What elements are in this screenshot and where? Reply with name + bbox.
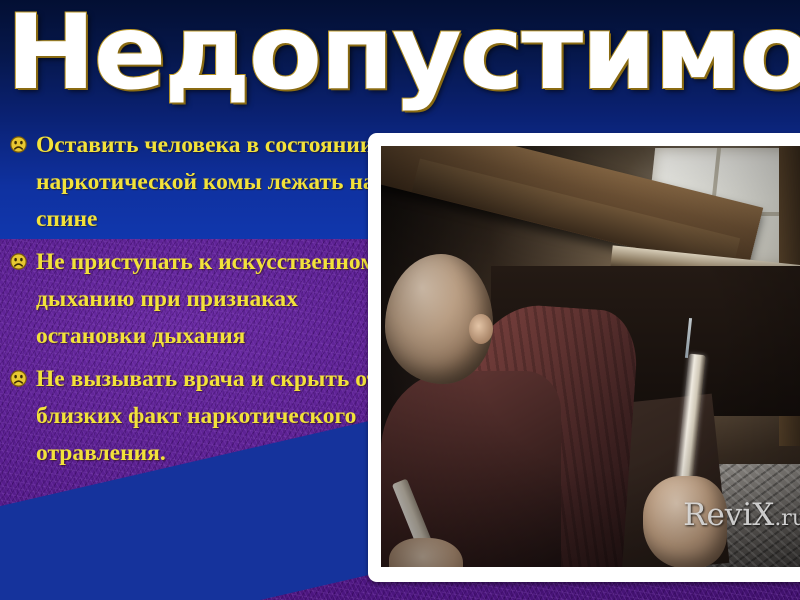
watermark-suffix: .ru [774,506,800,531]
list-item: Оставить человека в состоянии наркотичес… [10,127,402,238]
bullet-list: Оставить человека в состоянии наркотичес… [10,127,402,478]
slide-photo: ReviX.ru [381,146,800,567]
watermark-main: ReviX [683,497,774,533]
list-item-label: Не вызывать врача и скрыть от близких фа… [36,361,402,472]
sad-face-icon [10,370,27,387]
list-item: Не вызывать врача и скрыть от близких фа… [10,361,402,472]
sad-face-icon [10,136,27,153]
presentation-slide: Недопустимо! Оставить человека в состоян… [0,0,800,600]
slide-title: Недопустимо! [6,0,800,114]
list-item: Не приступать к искусственному дыханию п… [10,244,402,355]
list-item-label: Не приступать к искусственному дыханию п… [36,244,402,355]
photo-watermark: ReviX.ru [683,497,800,533]
sad-face-icon [10,253,27,270]
list-item-label: Оставить человека в состоянии наркотичес… [36,127,402,238]
photo-frame: ReviX.ru [368,133,800,582]
